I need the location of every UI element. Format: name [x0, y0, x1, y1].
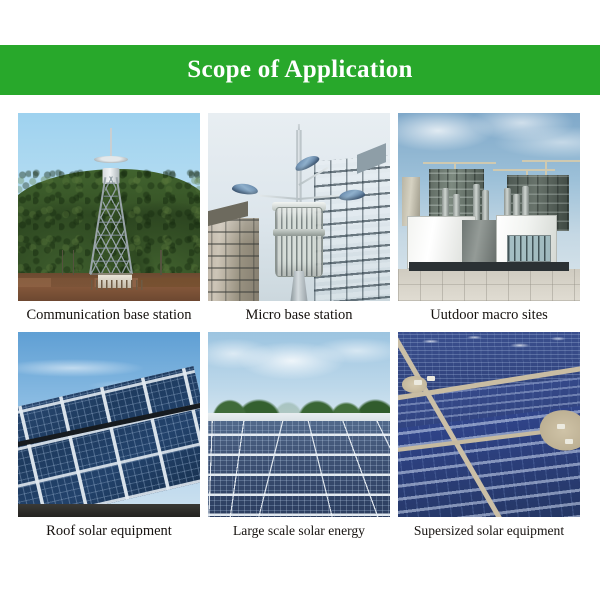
- gallery-row: Communication base station: [18, 113, 580, 324]
- panel-cell-grid: [208, 421, 390, 517]
- paved-ground: [398, 269, 580, 301]
- roof-solar-scene: [18, 332, 200, 517]
- roof-eave: [18, 504, 200, 517]
- service-hut: [557, 424, 565, 429]
- gallery-cell-outdoor-macro-sites[interactable]: Uutdoor macro sites: [398, 113, 580, 324]
- cell-caption: Roof solar equipment: [18, 517, 200, 540]
- service-hut: [565, 439, 573, 444]
- tower-scene: [18, 113, 200, 301]
- gallery-cell-roof-solar-equipment[interactable]: Roof solar equipment: [18, 332, 200, 540]
- platform-shadow: [409, 262, 569, 271]
- utility-pylon: [160, 250, 162, 274]
- cell-caption: Supersized solar equipment: [398, 517, 580, 539]
- micro-base-station-photo[interactable]: [208, 113, 390, 301]
- application-gallery: Communication base station: [18, 113, 580, 540]
- vent-duct: [482, 190, 489, 222]
- gallery-cell-communication-base-station[interactable]: Communication base station: [18, 113, 200, 324]
- gallery-cell-micro-base-station[interactable]: Micro base station: [208, 113, 390, 324]
- service-hut: [427, 376, 435, 381]
- solar-panel-array: [208, 421, 390, 517]
- large-solar-scene: [208, 332, 390, 517]
- high-rise-building: [314, 154, 390, 301]
- lattice-tower: [88, 128, 134, 275]
- gallery-cell-large-scale-solar-energy[interactable]: Large scale solar energy: [208, 332, 390, 540]
- cell-caption: Communication base station: [18, 301, 200, 324]
- roof-solar-equipment-photo[interactable]: [18, 332, 200, 517]
- microwave-dish: [94, 156, 128, 163]
- cell-caption: Micro base station: [208, 301, 390, 324]
- outdoor-macro-sites-photo[interactable]: [398, 113, 580, 301]
- utility-pylon: [73, 250, 75, 274]
- service-hut: [414, 380, 422, 385]
- cell-caption: Uutdoor macro sites: [398, 301, 580, 324]
- street-pole-scene: [208, 113, 390, 301]
- glass-door: [507, 235, 551, 261]
- page-title: Scope of Application: [187, 56, 412, 84]
- enclosure-base: [273, 229, 325, 236]
- lamp-arm: [259, 194, 299, 200]
- gallery-cell-supersized-solar-equipment[interactable]: Supersized solar equipment: [398, 332, 580, 540]
- utility-pylon: [62, 250, 64, 274]
- cell-caption: Large scale solar energy: [208, 517, 390, 539]
- page-banner: Scope of Application: [0, 45, 600, 95]
- aerial-solar-farm-scene: [398, 332, 580, 517]
- site-fence: [91, 280, 143, 290]
- micro-bts-enclosure: [275, 207, 323, 277]
- supersized-solar-equipment-photo[interactable]: [398, 332, 580, 517]
- cloud-layer: [208, 336, 390, 395]
- large-scale-solar-energy-photo[interactable]: [208, 332, 390, 517]
- apartment-building: [208, 218, 259, 301]
- communication-base-station-photo[interactable]: [18, 113, 200, 301]
- macro-site-scene: [398, 113, 580, 301]
- lamp-head: [231, 183, 258, 196]
- gallery-row: Roof solar equipment Large scale solar e…: [18, 332, 580, 540]
